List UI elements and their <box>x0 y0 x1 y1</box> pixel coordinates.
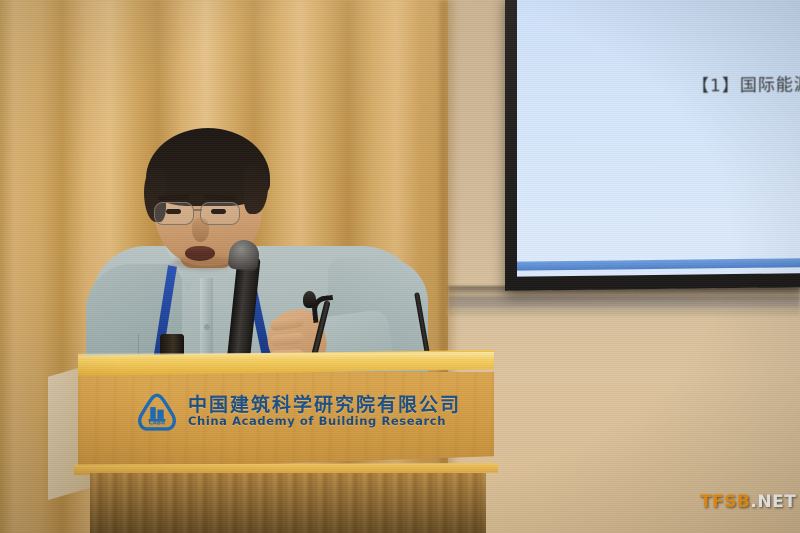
projection-screen: 【1】国际能源 <box>505 0 800 291</box>
cabr-logo-icon: CABR <box>136 392 178 434</box>
speaker-nose <box>192 218 209 242</box>
podium-base-shading <box>90 473 486 533</box>
watermark: TFSB.NET <box>700 492 796 512</box>
wall-trim-lower <box>448 308 800 316</box>
watermark-brand: TFSB <box>700 492 750 512</box>
watermark-tld: .NET <box>750 492 796 512</box>
speaker-eye-right <box>211 209 226 214</box>
podium: CABR 中国建筑科学研究院有限公司 China Academy of Buil… <box>48 350 494 533</box>
speaker-chin-shadow <box>172 256 234 270</box>
shirt-button <box>204 324 210 330</box>
projection-screen-surface: 【1】国际能源 <box>517 0 800 277</box>
speaker <box>92 128 422 378</box>
svg-text:CABR: CABR <box>149 421 166 427</box>
podium-org-name-cn: 中国建筑科学研究院有限公司 <box>188 390 461 417</box>
slide-heading-text: 【1】国际能源 <box>692 70 800 96</box>
eyeglasses-bridge <box>193 209 202 211</box>
podium-top-highlight <box>78 352 494 360</box>
speaker-hair-side-right <box>244 164 268 214</box>
podium-org-name-en: China Academy of Building Research <box>188 414 446 428</box>
speaker-eye-left <box>166 209 181 214</box>
slide-accent-band <box>517 258 800 271</box>
photo-scene: 【1】国际能源 <box>0 0 800 533</box>
gooseneck-microphone-head <box>303 291 316 308</box>
handheld-microphone-head <box>228 239 261 272</box>
podium-branding: CABR 中国建筑科学研究院有限公司 China Academy of Buil… <box>136 390 466 440</box>
